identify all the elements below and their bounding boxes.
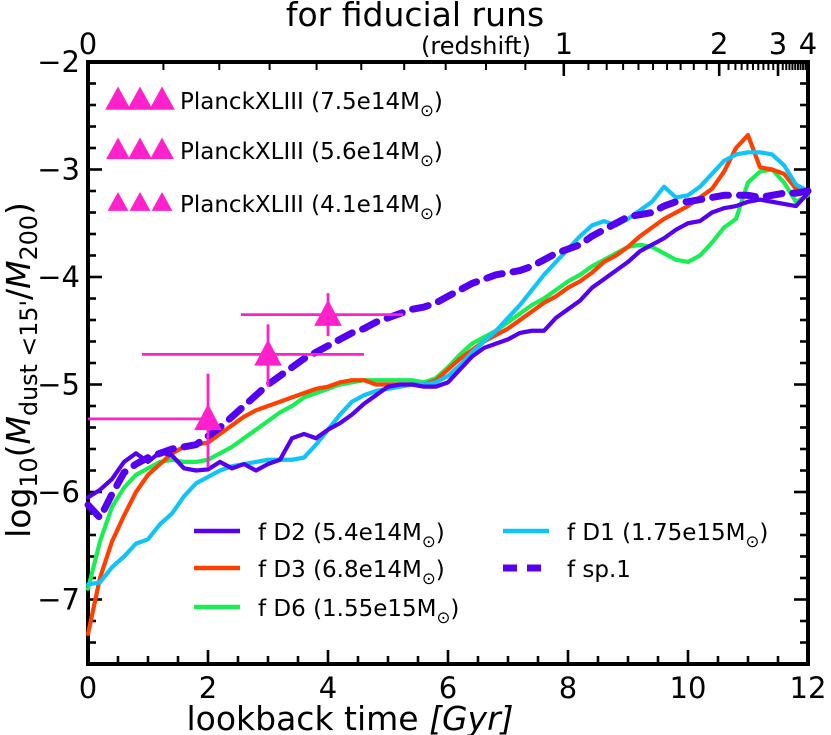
figure-container: for fiducial runs 024681012−2−3−4−5−6−70… (0, 0, 831, 735)
figure-title: for fiducial runs (286, 0, 544, 34)
redshift-tick-label: 0 (79, 27, 97, 61)
y-tick-label: −6 (37, 475, 80, 509)
x-tick-label: 10 (670, 671, 707, 705)
x-tick-label: 0 (79, 671, 97, 705)
x-axis-label: lookback time [Gyr] (186, 699, 513, 735)
y-tick-label: −4 (37, 260, 80, 294)
figure-title-group: for fiducial runs (286, 0, 544, 34)
y-tick-label: −5 (37, 368, 80, 402)
y-tick-label: −7 (37, 583, 80, 617)
redshift-tick-label: 1 (555, 27, 573, 61)
redshift-tick-label: 4 (799, 27, 817, 61)
redshift-axis-caption: (redshift) (421, 32, 531, 60)
redshift-tick-label: 2 (710, 27, 728, 61)
x-tick-label: 8 (559, 671, 577, 705)
y-tick-label: −3 (37, 153, 80, 187)
y-tick-label: −2 (37, 45, 80, 79)
chart-canvas: for fiducial runs 024681012−2−3−4−5−6−70… (0, 0, 831, 735)
redshift-tick-label: 3 (769, 27, 787, 61)
x-tick-label: 12 (790, 671, 827, 705)
x-axis-title: lookback time [Gyr] (186, 699, 513, 735)
legend-label-f-sp1: f sp.1 (567, 557, 631, 583)
